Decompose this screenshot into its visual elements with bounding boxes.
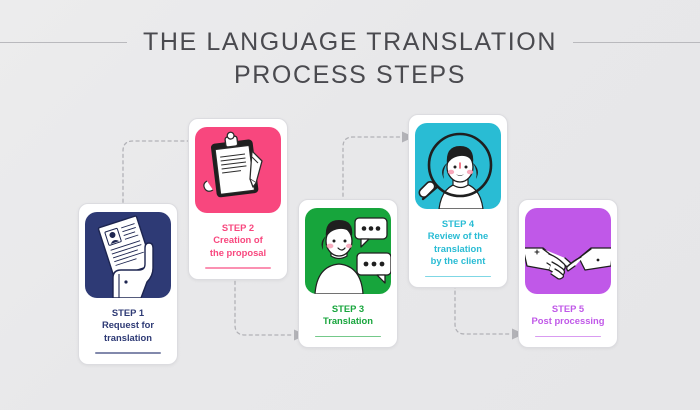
step-label: STEP 2 bbox=[196, 222, 280, 234]
title-rule-left bbox=[0, 42, 127, 43]
step-card-4-text: STEP 4 Review of the translation by the … bbox=[416, 218, 500, 268]
title-line-2: PROCESS STEPS bbox=[0, 61, 700, 90]
magnifier-person-icon bbox=[415, 123, 501, 209]
step-label: STEP 3 bbox=[306, 303, 390, 315]
title-line-1: THE LANGUAGE TRANSLATION bbox=[143, 28, 557, 57]
infographic-canvas: THE LANGUAGE TRANSLATION PROCESS STEPS bbox=[0, 0, 700, 410]
step-desc-line-2: the proposal bbox=[196, 247, 280, 259]
step-card-1[interactable]: STEP 1 Request for translation bbox=[78, 203, 178, 365]
step-card-3-underline bbox=[315, 336, 381, 337]
step-desc-line-1: Creation of bbox=[196, 234, 280, 246]
step-desc-line-1: Request for bbox=[86, 319, 170, 331]
step-desc-line-2: translation bbox=[416, 243, 500, 255]
step-label: STEP 1 bbox=[86, 307, 170, 319]
step-desc-line-1: Review of the bbox=[416, 230, 500, 242]
step-card-3-text: STEP 3 Translation bbox=[306, 303, 390, 328]
step-desc-line-1: Post processing bbox=[526, 315, 610, 327]
step-desc-line-3: by the client bbox=[416, 255, 500, 267]
step-desc-line-1: Translation bbox=[306, 315, 390, 327]
step-card-1-underline bbox=[95, 352, 161, 353]
clipboard-pen-icon bbox=[195, 127, 281, 213]
handshake-icon bbox=[525, 208, 611, 294]
step-card-5-text: STEP 5 Post processing bbox=[526, 303, 610, 328]
title-line-1-row: THE LANGUAGE TRANSLATION bbox=[0, 28, 700, 57]
step-card-2-text: STEP 2 Creation of the proposal bbox=[196, 222, 280, 259]
hand-holding-resume-icon bbox=[85, 212, 171, 298]
step-card-5[interactable]: STEP 5 Post processing bbox=[518, 199, 618, 348]
step-card-2-underline bbox=[205, 267, 271, 268]
step-label: STEP 5 bbox=[526, 303, 610, 315]
person-speech-bubbles-icon bbox=[305, 208, 391, 294]
step-card-4[interactable]: STEP 4 Review of the translation by the … bbox=[408, 114, 508, 288]
step-label: STEP 4 bbox=[416, 218, 500, 230]
step-desc-line-2: translation bbox=[86, 332, 170, 344]
title-rule-right bbox=[573, 42, 700, 43]
step-card-2[interactable]: STEP 2 Creation of the proposal bbox=[188, 118, 288, 280]
step-card-5-underline bbox=[535, 336, 601, 337]
step-card-1-text: STEP 1 Request for translation bbox=[86, 307, 170, 344]
step-card-4-underline bbox=[425, 276, 491, 277]
step-card-3[interactable]: STEP 3 Translation bbox=[298, 199, 398, 348]
page-title: THE LANGUAGE TRANSLATION PROCESS STEPS bbox=[0, 28, 700, 90]
